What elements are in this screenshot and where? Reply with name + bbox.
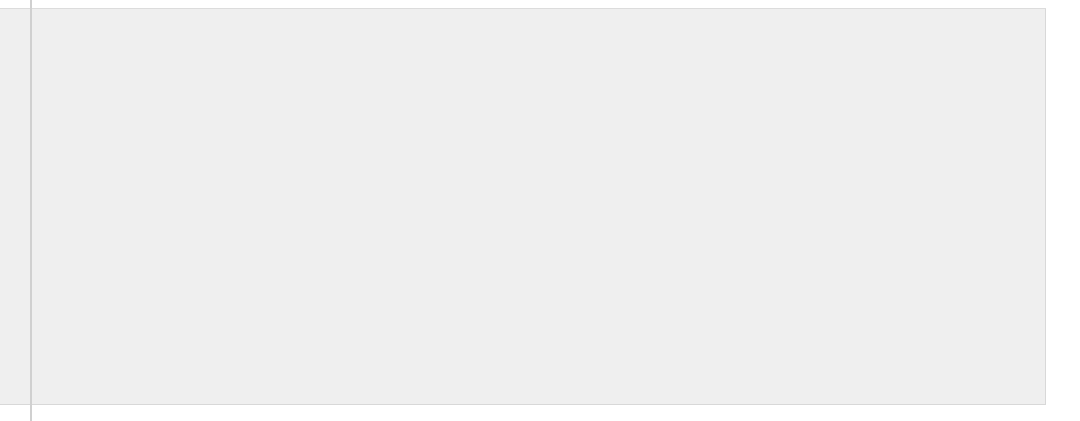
left-gutter-divider (30, 0, 32, 421)
abstract-panel (0, 8, 1046, 405)
panel-top-divider (0, 8, 1046, 9)
screen: This article re-examines the provenance … (0, 0, 1080, 421)
